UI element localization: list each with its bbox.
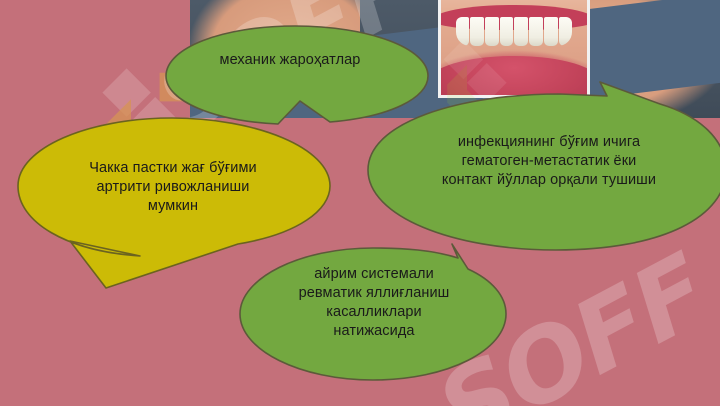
bubble-tmj-arthritis-label: Чакка пастки жағ бўғими артрити ривожлан… (38, 159, 308, 216)
bubble-rheumatic-disease (240, 244, 506, 380)
dental-smile-photo (190, 0, 720, 118)
lower-lip (438, 56, 590, 98)
mouth-photo (441, 0, 587, 95)
watermark-text: SOFF (419, 232, 720, 406)
bubble-rheumatic-disease-label: айрим системали ревматик яллиғланиш каса… (258, 265, 490, 340)
bubble-tmj-arthritis (18, 118, 330, 288)
mouth-photo-frame (438, 0, 590, 98)
slide-canvas: SOFF SOFF механик жароҳатлар Чакка пастк… (0, 0, 720, 406)
teeth-row (456, 17, 573, 46)
bubble-infection-spread-label: инфекциянинг бўғим ичига гематоген-метас… (404, 133, 694, 190)
